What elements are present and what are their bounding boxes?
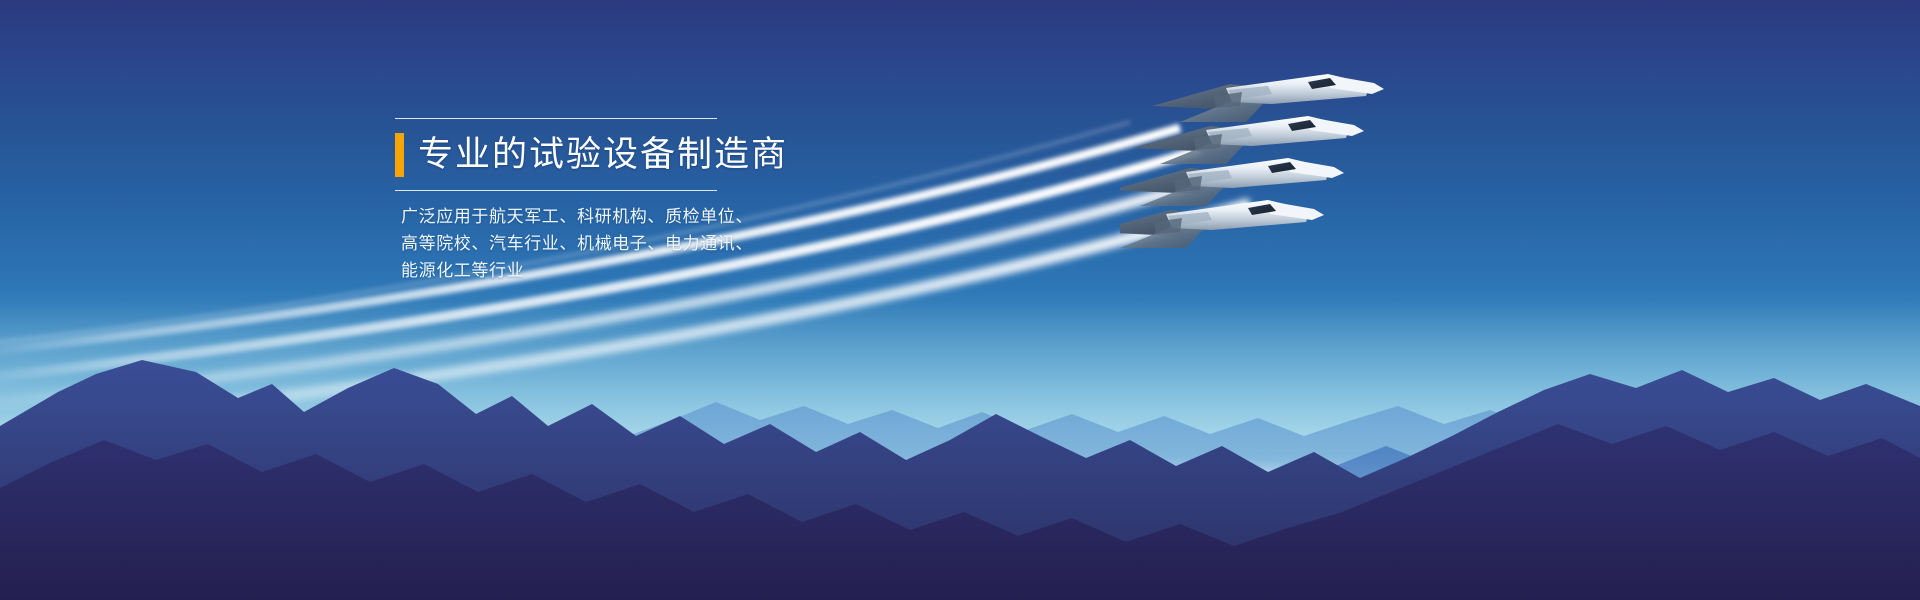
- rule-top: [395, 118, 717, 119]
- subtitle-block: 广泛应用于航天军工、科研机构、质检单位、 高等院校、汽车行业、机械电子、电力通讯…: [401, 203, 955, 284]
- subtitle-line-3: 能源化工等行业: [401, 257, 955, 284]
- subtitle-line-1: 广泛应用于航天军工、科研机构、质检单位、: [401, 203, 955, 230]
- rule-bottom: [395, 190, 717, 191]
- orange-accent-bar: [395, 133, 404, 177]
- page-title: 专业的试验设备制造商: [418, 133, 788, 177]
- jet-1: [1152, 74, 1384, 122]
- hero-banner: 专业的试验设备制造商 广泛应用于航天军工、科研机构、质检单位、 高等院校、汽车行…: [0, 0, 1920, 600]
- jet-3: [1120, 158, 1344, 206]
- jet-formation: [1120, 40, 1540, 270]
- headline-block: 专业的试验设备制造商 广泛应用于航天军工、科研机构、质检单位、 高等院校、汽车行…: [395, 118, 955, 284]
- subtitle-line-2: 高等院校、汽车行业、机械电子、电力通讯、: [401, 230, 955, 257]
- title-row: 专业的试验设备制造商: [395, 128, 955, 182]
- jet-4: [1120, 200, 1324, 248]
- jet-2: [1132, 116, 1364, 164]
- mountain-range: [0, 340, 1920, 600]
